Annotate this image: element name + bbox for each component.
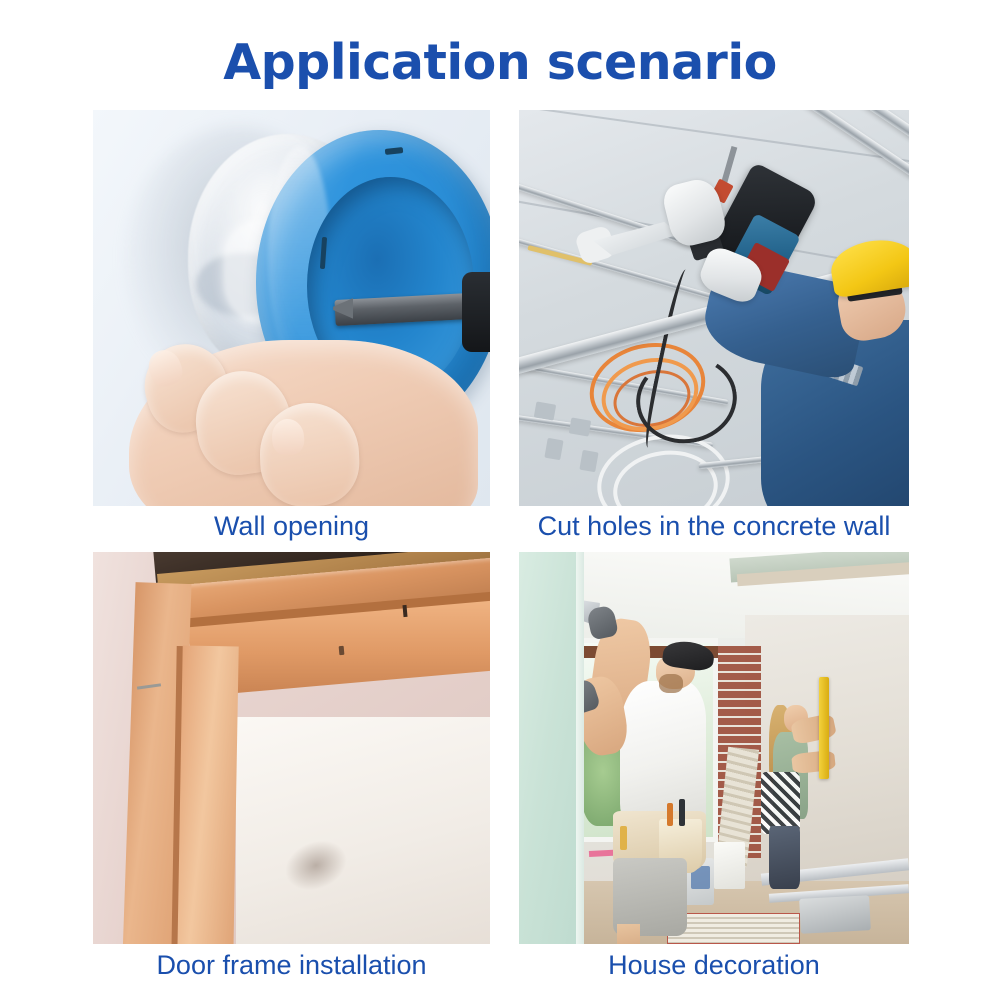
door-frame-jamb-inner xyxy=(178,646,239,944)
belt-tool xyxy=(620,826,627,850)
gallery-panel-door-frame-installation[interactable] xyxy=(93,552,490,944)
photo-house-decoration xyxy=(519,552,909,944)
toolbox xyxy=(799,895,871,934)
belt-tool xyxy=(679,799,685,826)
drill-chuck xyxy=(462,272,490,351)
belt-tool xyxy=(667,803,673,827)
material-bag xyxy=(714,842,745,889)
fingernail xyxy=(270,418,304,456)
plaid-shirt xyxy=(761,772,800,835)
gallery-panel-house-decoration[interactable] xyxy=(519,552,909,944)
gallery-panel-cut-holes-concrete-wall[interactable] xyxy=(519,110,909,506)
gallery-panel-wall-opening[interactable] xyxy=(93,110,490,506)
photo-cut-holes-concrete-wall xyxy=(519,110,909,506)
photo-door-frame-installation xyxy=(93,552,490,944)
screw xyxy=(402,605,407,617)
man-beard xyxy=(659,674,682,694)
caption-door-frame-installation: Door frame installation xyxy=(93,950,490,981)
plank-stack xyxy=(667,913,800,944)
panel-edge xyxy=(576,552,585,944)
pipe-clamp xyxy=(533,401,555,420)
caption-wall-opening: Wall opening xyxy=(93,511,490,542)
woman-jeans xyxy=(769,826,800,889)
photo-wall-opening xyxy=(93,110,490,506)
application-scenario-page: Application scenario Wall openi xyxy=(0,0,1000,1000)
man-torso-tshirt xyxy=(620,681,706,830)
caption-cut-holes-concrete-wall: Cut holes in the concrete wall xyxy=(519,511,909,542)
page-title: Application scenario xyxy=(0,34,1000,91)
green-wall-panel xyxy=(519,552,581,944)
yellow-spirit-level xyxy=(819,677,829,779)
pipe-clamp xyxy=(568,417,590,436)
caption-house-decoration: House decoration xyxy=(519,950,909,981)
screw xyxy=(339,646,344,655)
man-leg xyxy=(617,924,640,944)
door-opening xyxy=(236,717,490,944)
